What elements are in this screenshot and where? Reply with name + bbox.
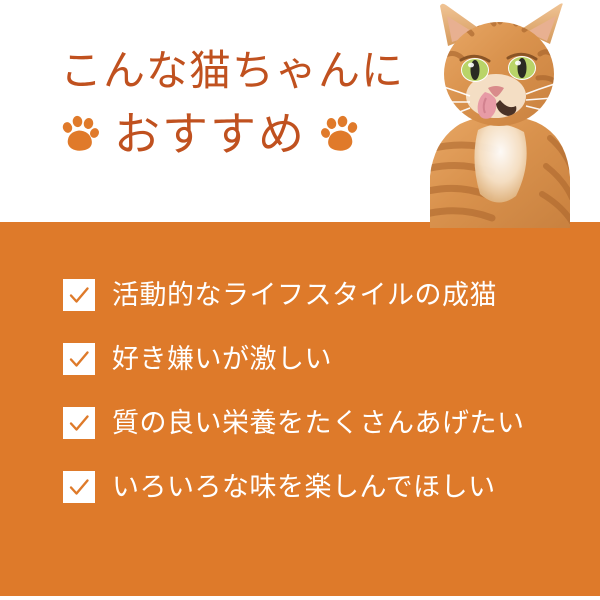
checklist-panel: 活動的なライフスタイルの成猫 好き嫌いが激しい 質の良い栄養をたくさんあげたい xyxy=(0,222,600,596)
headline-line-1: こんな猫ちゃんに xyxy=(60,46,404,96)
checkmark-icon[interactable] xyxy=(63,343,95,375)
list-item-label: 活動的なライフスタイルの成猫 xyxy=(112,279,497,311)
headline-word: おすすめ xyxy=(114,108,306,160)
list-item[interactable]: 質の良い栄養をたくさんあげたい xyxy=(63,407,525,439)
list-item-label: 質の良い栄養をたくさんあげたい xyxy=(112,407,525,439)
list-item[interactable]: いろいろな味を楽しんでほしい xyxy=(63,471,525,503)
list-item[interactable]: 活動的なライフスタイルの成猫 xyxy=(63,279,525,311)
headline-line-2: おすすめ xyxy=(60,108,404,160)
paw-print-icon xyxy=(320,114,360,154)
checkmark-icon[interactable] xyxy=(63,407,95,439)
headline: こんな猫ちゃんに おすすめ xyxy=(60,46,404,160)
list-item[interactable]: 好き嫌いが激しい xyxy=(63,343,525,375)
checkmark-icon[interactable] xyxy=(63,279,95,311)
list-item-label: 好き嫌いが激しい xyxy=(112,343,332,375)
checklist: 活動的なライフスタイルの成猫 好き嫌いが激しい 質の良い栄養をたくさんあげたい xyxy=(63,279,525,503)
promo-banner: こんな猫ちゃんに おすすめ xyxy=(0,0,600,600)
list-item-label: いろいろな味を楽しんでほしい xyxy=(112,471,496,503)
checkmark-icon[interactable] xyxy=(63,471,95,503)
paw-print-icon xyxy=(60,114,100,154)
